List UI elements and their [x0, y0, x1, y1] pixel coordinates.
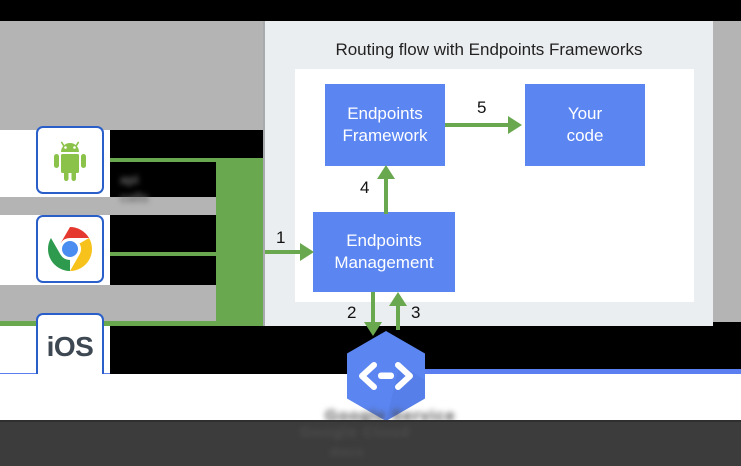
arrow-2-label: 2: [347, 303, 356, 323]
arrow-3-head-icon: [389, 292, 407, 306]
arrow-5-line: [445, 123, 513, 127]
arrow-3-label: 3: [411, 303, 420, 323]
arrow-1-head-icon: [300, 243, 314, 261]
green-connector-left-stub: [0, 321, 38, 326]
box-endpoints-framework-line1: Endpoints: [347, 103, 423, 125]
page-gray-strip-right-upper: [713, 21, 741, 130]
arrow-4-head-icon: [377, 165, 395, 179]
page-background-gray: [0, 21, 265, 130]
occlusion-block-lower-right: [265, 322, 741, 374]
screenshot-stage: api calls i: [0, 0, 741, 466]
box-endpoints-management-line2: Management: [334, 252, 433, 274]
green-connector-chrome: [110, 252, 240, 256]
client-tile-android[interactable]: [36, 126, 104, 194]
box-endpoints-framework[interactable]: Endpoints Framework: [325, 84, 445, 166]
client-tile-chrome[interactable]: [36, 215, 104, 283]
bottom-bar-text-line2: docs: [330, 444, 364, 459]
chrome-icon: [46, 225, 94, 273]
occluded-label-api: api: [120, 172, 139, 187]
arrow-1-label: 1: [276, 228, 285, 248]
green-connector-android: [110, 158, 240, 162]
android-icon: [50, 138, 90, 182]
arrow-4-label: 4: [360, 178, 369, 198]
arrow-5-label: 5: [477, 98, 486, 118]
client-tile-ios[interactable]: iOS: [36, 313, 104, 381]
page-gray-strip-right-lower: [713, 130, 741, 326]
box-endpoints-management-line1: Endpoints: [346, 230, 422, 252]
box-endpoints-framework-line2: Framework: [342, 125, 427, 147]
box-your-code-line1: Your: [568, 103, 602, 125]
blue-rule-right: [404, 369, 741, 374]
box-endpoints-management[interactable]: Endpoints Management: [313, 212, 455, 292]
diagram-title: Routing flow with Endpoints Frameworks: [265, 40, 713, 60]
occluded-label-calls: calls: [120, 190, 149, 205]
arrow-5-head-icon: [508, 116, 522, 134]
box-your-code[interactable]: Your code: [525, 84, 645, 166]
bottom-bar-text-line1: Google Cloud: [300, 424, 410, 441]
box-your-code-line2: code: [567, 125, 604, 147]
top-black-band: [0, 0, 741, 21]
ios-label: iOS: [47, 331, 94, 363]
arrow-2-line: [371, 292, 375, 325]
